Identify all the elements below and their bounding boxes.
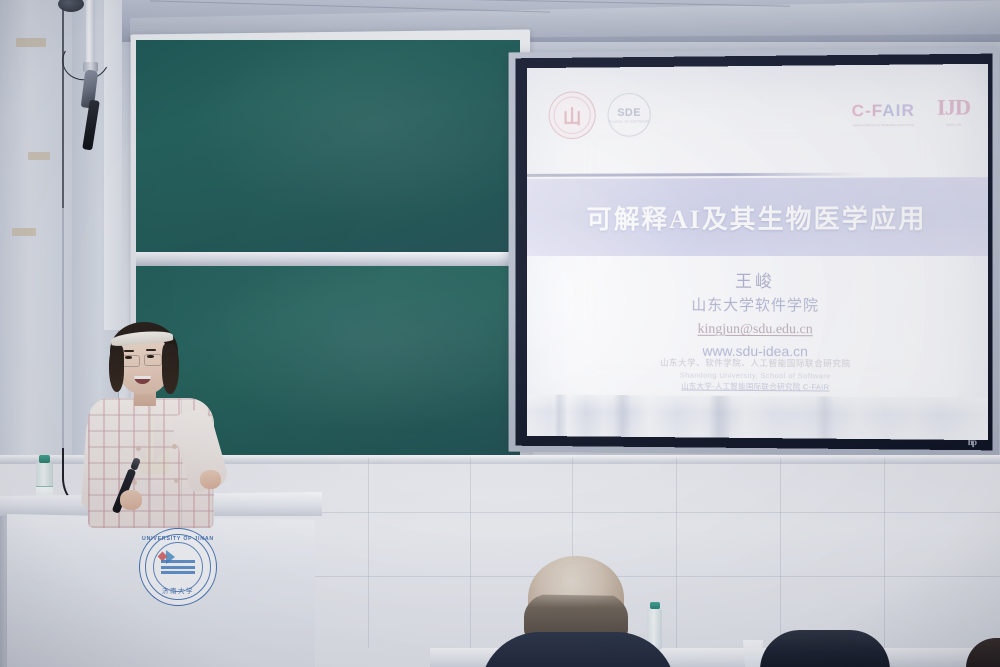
sde-logo-icon: SDE SCHOOL OF SOFTWARE — [607, 93, 650, 137]
eyebrow — [124, 350, 134, 352]
jacket-button — [136, 446, 141, 451]
wall-patch — [12, 228, 36, 236]
slide-footer-block: 山东大学、软件学院、人工智能国际联合研究院 Shandong Universit… — [527, 356, 988, 394]
presenter-left-hand — [120, 490, 142, 510]
podium-seal-cn-text: 济南大学 — [140, 585, 216, 595]
audience-bottle-cap — [650, 602, 660, 609]
slide-title-band: 可解释AI及其生物医学应用 — [527, 177, 988, 256]
presentation-slide: 山 SDE SCHOOL OF SOFTWARE C-FAIR CHINA-FO… — [527, 64, 988, 440]
jacket-button — [172, 444, 177, 449]
shandong-university-seal-icon: 山 — [549, 91, 596, 139]
tile-seam — [780, 458, 781, 648]
jacket-button — [132, 480, 137, 485]
tile-seam — [368, 458, 369, 648]
university-of-jinan-seal-icon: UNIVERSITY OF JINAN 济南大学 — [139, 528, 217, 606]
joint-lab-glyph: IJD — [923, 94, 984, 121]
joint-lab-tagline: JOINT LAB — [923, 123, 984, 127]
wall-patch — [16, 38, 46, 47]
presenter-name: 王峻 — [527, 270, 988, 295]
jacket-button — [174, 478, 179, 483]
presenter-person — [82, 318, 282, 518]
cfair-logo-icon: C-FAIR CHINA-FOREIGN AI RESEARCH INSTITU… — [852, 101, 915, 128]
cfair-logo-text: C-FAIR — [852, 101, 915, 122]
presenter-affiliation: 山东大学软件学院 — [527, 296, 988, 319]
tile-seam — [470, 458, 471, 648]
lecture-hall-photo: hp 山 SDE SCHOOL OF SOFTWARE C-FAIR CHINA… — [0, 0, 1000, 667]
presenter-email: kingjun@sdu.edu.cn — [527, 320, 988, 342]
eyeglasses-left-lens-icon — [122, 355, 140, 367]
slide-logo-row: 山 SDE SCHOOL OF SOFTWARE C-FAIR CHINA-FO… — [527, 64, 988, 175]
bottle-cap — [39, 455, 50, 463]
cfair-logo-tagline: CHINA-FOREIGN AI RESEARCH INSTITUTE — [852, 123, 915, 127]
slide-campus-photo — [527, 394, 988, 440]
wall-patch — [28, 152, 50, 160]
presenter-hair-left — [109, 346, 124, 392]
presenter-right-hand — [200, 470, 221, 489]
blackboard-chalk-rail — [136, 252, 520, 266]
audience-shoulders — [480, 632, 676, 667]
sde-logo-text: SDE — [617, 106, 641, 118]
eyeglasses-right-lens-icon — [144, 354, 162, 366]
podium-seal-arc-text: UNIVERSITY OF JINAN — [140, 536, 216, 542]
mic-suspension-wire — [62, 8, 64, 208]
audience-member-front — [500, 556, 650, 667]
slide-divider-rule — [527, 173, 866, 177]
joint-lab-logo-icon: IJD JOINT LAB — [923, 94, 984, 127]
tile-seam — [884, 458, 885, 648]
audience-member-right — [760, 630, 890, 667]
blackboard-upper-panel — [136, 40, 520, 252]
slide-presenter-block: 王峻 山东大学软件学院 kingjun@sdu.edu.cn www.sdu-i… — [527, 270, 988, 364]
tile-seam — [676, 458, 677, 648]
slide-footer-link: 山东大学-人工智能国际联合研究院 C-FAIR — [527, 379, 988, 393]
eyebrow — [146, 349, 156, 351]
slide-title: 可解释AI及其生物医学应用 — [586, 198, 926, 236]
sde-logo-subtext: SCHOOL OF SOFTWARE — [609, 119, 649, 123]
presenter-hair-right — [162, 344, 179, 394]
